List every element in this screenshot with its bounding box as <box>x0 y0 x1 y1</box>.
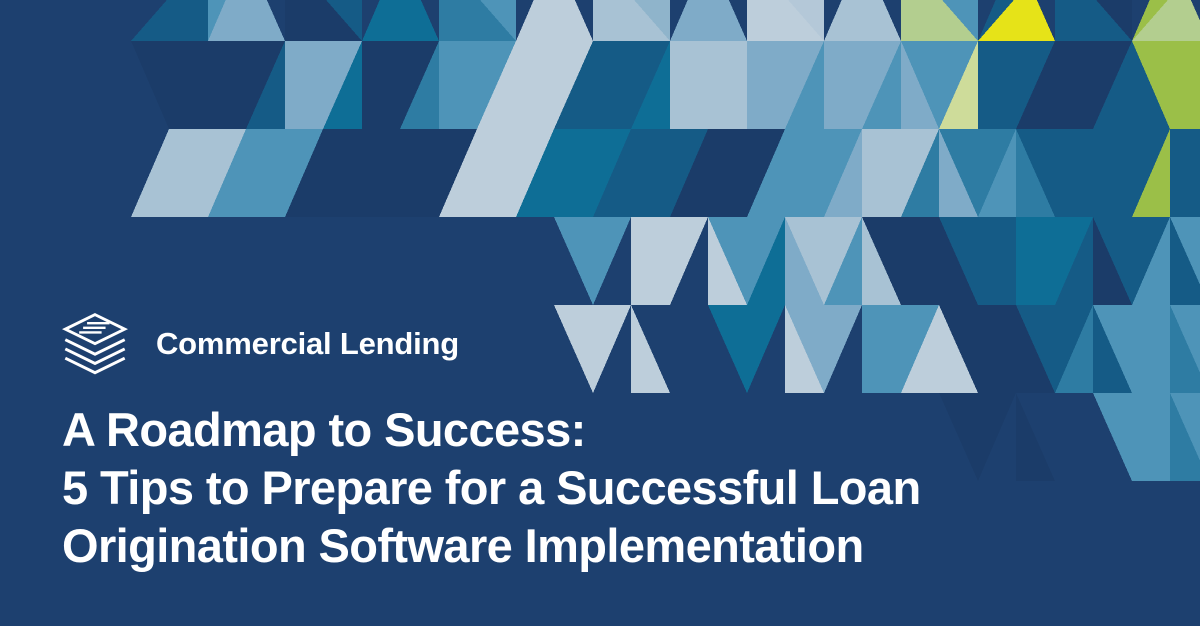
stacked-layers-icon <box>62 311 128 375</box>
headline-line-1: A Roadmap to Success: <box>62 401 1182 459</box>
brand-lockup: Commercial Lending <box>62 305 459 381</box>
brand-name-label: Commercial Lending <box>156 328 459 359</box>
banner-content: Commercial Lending A Roadmap to Success:… <box>0 0 1200 626</box>
marketing-banner: Commercial Lending A Roadmap to Success:… <box>0 0 1200 626</box>
headline-line-3: Origination Software Implementation <box>62 517 1182 575</box>
page-title: A Roadmap to Success: 5 Tips to Prepare … <box>62 401 1182 575</box>
headline-line-2: 5 Tips to Prepare for a Successful Loan <box>62 459 1182 517</box>
